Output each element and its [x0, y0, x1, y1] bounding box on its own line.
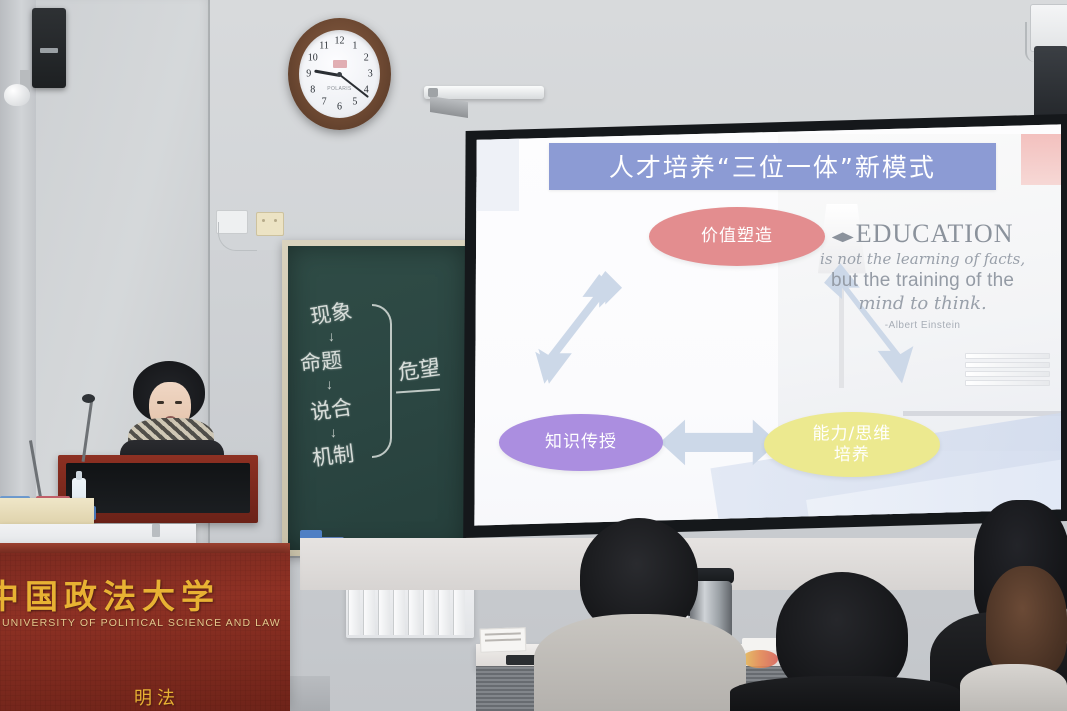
clock-brand: POLARIS [327, 86, 351, 92]
presenter-eye [157, 401, 164, 404]
podium-university-name-en: UNIVERSITY OF POLITICAL SCIENCE AND LAW [2, 617, 281, 629]
arrow-knowledge-ability [660, 414, 778, 471]
chalk-arrow: ↓ [330, 424, 337, 440]
chalk-arrow: ↓ [326, 376, 333, 392]
chalk-arrow: ↓ [328, 328, 335, 344]
slide-title-text: 人才培养“三位一体”新模式 [609, 148, 936, 184]
einstein-quote: EDUCATION is not the learning of facts, … [796, 219, 1049, 331]
paper-note [480, 627, 527, 653]
clock-numeral: 6 [337, 101, 342, 112]
quote-headline: EDUCATION [856, 219, 1014, 249]
blackboard: 现象 ↓ 命题 ↓ 说合 ↓ 机制 危望 [282, 240, 472, 556]
chalk-note: 危望 [396, 351, 442, 387]
projector-screen-roller [424, 86, 544, 99]
chalk-brace [372, 304, 392, 458]
outlet-prong [262, 219, 265, 222]
node-knowledge-label: 知识传授 [545, 432, 617, 453]
quote-author: -Albert Einstein [796, 320, 1049, 331]
presentation-slide: 人才培养“三位一体”新模式 价值塑造 [472, 122, 1061, 528]
clock-numeral: 11 [319, 40, 329, 51]
node-ability-line2: 培养 [834, 445, 870, 465]
podium-university-name-cn: 中国政法大学 [0, 570, 220, 618]
outlet-prong [274, 219, 277, 222]
clock-logo [333, 60, 347, 68]
clock-numeral: 10 [308, 53, 318, 64]
book [965, 371, 1050, 377]
ceiling-lamp [4, 84, 30, 106]
node-knowledge-transfer[interactable]: 知识传授 [499, 414, 664, 471]
clock-numeral: 2 [364, 53, 369, 64]
graduation-cap-icon [832, 231, 854, 245]
node-ability-cultivation[interactable]: 能力/思维 培养 [764, 412, 941, 477]
node-ability-label: 能力/思维 培养 [813, 424, 892, 467]
audience-shoulders [960, 664, 1067, 711]
book [965, 353, 1050, 359]
podium-motto: 明法 [134, 684, 180, 710]
microphone-head [82, 394, 95, 403]
book [965, 362, 1050, 368]
screen-bracket [428, 88, 438, 97]
clock-numeral: 3 [368, 69, 373, 80]
paper-line [485, 632, 521, 635]
wall-cable [218, 222, 257, 251]
presenter-eye [175, 401, 182, 404]
speaker-grill [40, 48, 58, 53]
chalk-note: 现象 [308, 295, 354, 331]
clock-numeral: 8 [310, 84, 315, 95]
sanitizer-pump [76, 471, 82, 480]
arrow-value-knowledge [513, 268, 637, 390]
audience-head [986, 566, 1067, 678]
clock-numeral: 12 [335, 36, 345, 47]
slide-title-banner: 人才培养“三位一体”新模式 [549, 143, 997, 190]
quote-headline-row: EDUCATION [796, 219, 1049, 249]
quote-line-4: mind to think. [796, 293, 1049, 314]
quote-line-2: is not the learning of facts, [796, 250, 1049, 268]
clock-numeral: 7 [322, 97, 327, 108]
clock-center-pin [337, 72, 342, 77]
chalk-note: 说合 [308, 391, 354, 427]
clock-numeral: 5 [352, 97, 357, 108]
clock-numeral: 9 [306, 69, 311, 80]
node-value-label: 价值塑造 [701, 226, 773, 247]
clock-hour-hand [314, 70, 340, 77]
fruit-plate [742, 650, 778, 668]
audience-shoulders [534, 614, 746, 711]
photo-pink-band [1021, 134, 1061, 185]
books-stack [965, 350, 1050, 401]
node-ability-line1: 能力/思维 [813, 424, 892, 444]
chalk-note: 命题 [299, 344, 344, 378]
photo-shelf [903, 411, 1061, 416]
podium-knob[interactable] [152, 524, 160, 537]
paper-line [485, 638, 521, 641]
wall-clock-icon: 12 1 2 3 4 5 6 7 8 9 10 11 POLARIS [288, 18, 391, 130]
lecture-hall-scene: 12 1 2 3 4 5 6 7 8 9 10 11 POLARIS 现象 ↓ [0, 0, 1067, 711]
blackboard-surface: 现象 ↓ 命题 ↓ 说合 ↓ 机制 危望 [288, 246, 466, 550]
wall-speaker-right-icon [1034, 46, 1067, 124]
projector-screen: 人才培养“三位一体”新模式 价值塑造 [472, 122, 1061, 528]
quote-line-3: but the training of the [796, 270, 1049, 292]
power-outlet-beige-icon[interactable] [256, 212, 284, 236]
audience-shoulders [730, 676, 960, 711]
clock-numeral: 1 [352, 40, 357, 51]
clock-face: 12 1 2 3 4 5 6 7 8 9 10 11 POLARIS [299, 30, 380, 118]
book [965, 380, 1050, 386]
wall-speaker-icon [32, 8, 66, 88]
chalk-underline [396, 388, 440, 393]
chalk-note: 机制 [310, 438, 355, 473]
